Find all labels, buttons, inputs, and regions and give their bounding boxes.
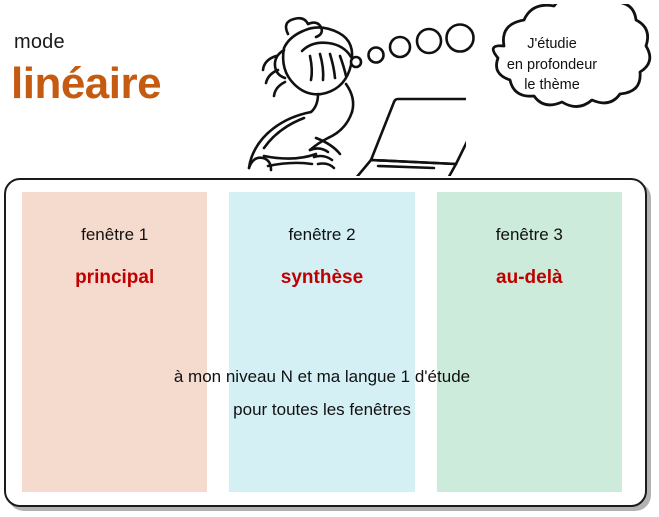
window-column-2[interactable]: fenêtre 2 synthèse: [229, 192, 414, 492]
window-3-keyword: au-delà: [437, 267, 622, 289]
window-1-label: fenêtre 1: [22, 225, 207, 245]
window-2-label: fenêtre 2: [229, 225, 414, 245]
cloud-line-3: le thème: [452, 75, 652, 96]
cloud-line-1: J'étudie: [452, 34, 652, 55]
thought-cloud-text: J'étudie en profondeur le thème: [452, 34, 652, 96]
window-1-keyword: principal: [22, 267, 207, 289]
windows-column-group: fenêtre 1 principal fenêtre 2 synthèse f…: [22, 192, 622, 492]
slide-canvas: mode linéaire: [0, 0, 659, 517]
page-title: linéaire: [11, 62, 161, 106]
window-column-1[interactable]: fenêtre 1 principal: [22, 192, 207, 492]
mode-eyebrow-label: mode: [14, 32, 65, 52]
window-3-label: fenêtre 3: [437, 225, 622, 245]
window-2-keyword: synthèse: [229, 267, 414, 289]
window-column-3[interactable]: fenêtre 3 au-delà: [437, 192, 622, 492]
cloud-line-2: en profondeur: [452, 55, 652, 76]
